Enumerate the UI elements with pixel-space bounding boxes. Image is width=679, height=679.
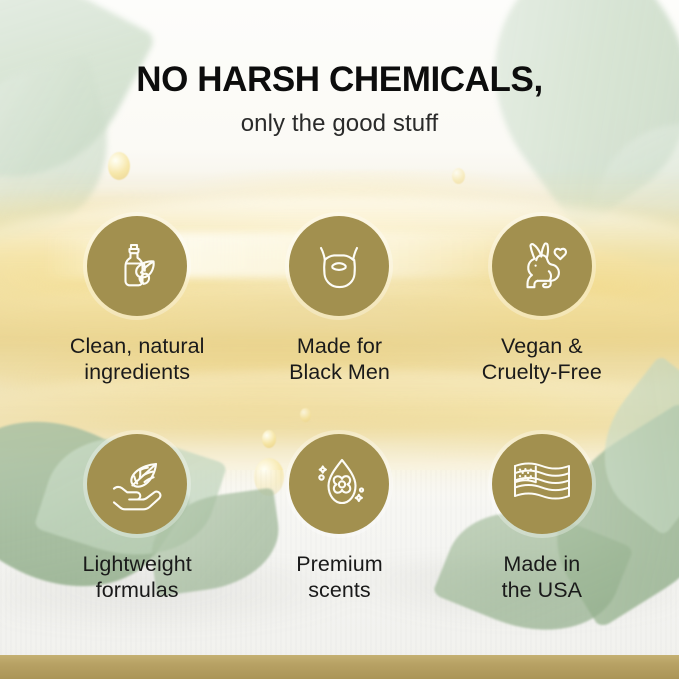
feature-item-clean-natural-ingredients: Clean, natural ingredients xyxy=(36,216,238,434)
feature-item-vegan-cruelty-free: Vegan & Cruelty-Free xyxy=(441,216,643,434)
feature-badge xyxy=(492,216,592,316)
dropper-bottle-leaf-icon xyxy=(108,237,166,295)
feature-item-premium-scents: Premium scents xyxy=(238,434,440,652)
feature-label: Made for Black Men xyxy=(289,333,390,385)
page-title: NO HARSH CHEMICALS, xyxy=(0,62,679,99)
feature-badge xyxy=(289,434,389,534)
feature-label: Premium scents xyxy=(296,551,382,603)
feature-item-made-for-black-men: Made for Black Men xyxy=(238,216,440,434)
promo-banner: NO HARSH CHEMICALS, only the good stuff xyxy=(0,0,679,679)
hand-holding-feather-icon xyxy=(106,456,168,512)
page-subtitle: only the good stuff xyxy=(0,110,679,138)
content-layer: NO HARSH CHEMICALS, only the good stuff xyxy=(0,0,679,679)
feature-badge xyxy=(87,216,187,316)
droplet-flower-sparkle-icon xyxy=(310,454,368,514)
feature-badge xyxy=(87,434,187,534)
feature-item-made-in-the-usa: Made in the USA xyxy=(441,434,643,652)
feature-label: Lightweight formulas xyxy=(83,551,192,603)
feature-grid: Clean, natural ingredients Made for Blac… xyxy=(36,216,643,652)
feature-item-lightweight-formulas: Lightweight formulas xyxy=(36,434,238,652)
usa-flag-icon xyxy=(511,460,573,508)
feature-label: Vegan & Cruelty-Free xyxy=(482,333,602,385)
feature-label: Clean, natural ingredients xyxy=(70,333,205,385)
feature-badge xyxy=(492,434,592,534)
beard-icon xyxy=(309,236,369,296)
rabbit-heart-icon xyxy=(512,237,572,295)
feature-badge xyxy=(289,216,389,316)
feature-label: Made in the USA xyxy=(502,551,582,603)
